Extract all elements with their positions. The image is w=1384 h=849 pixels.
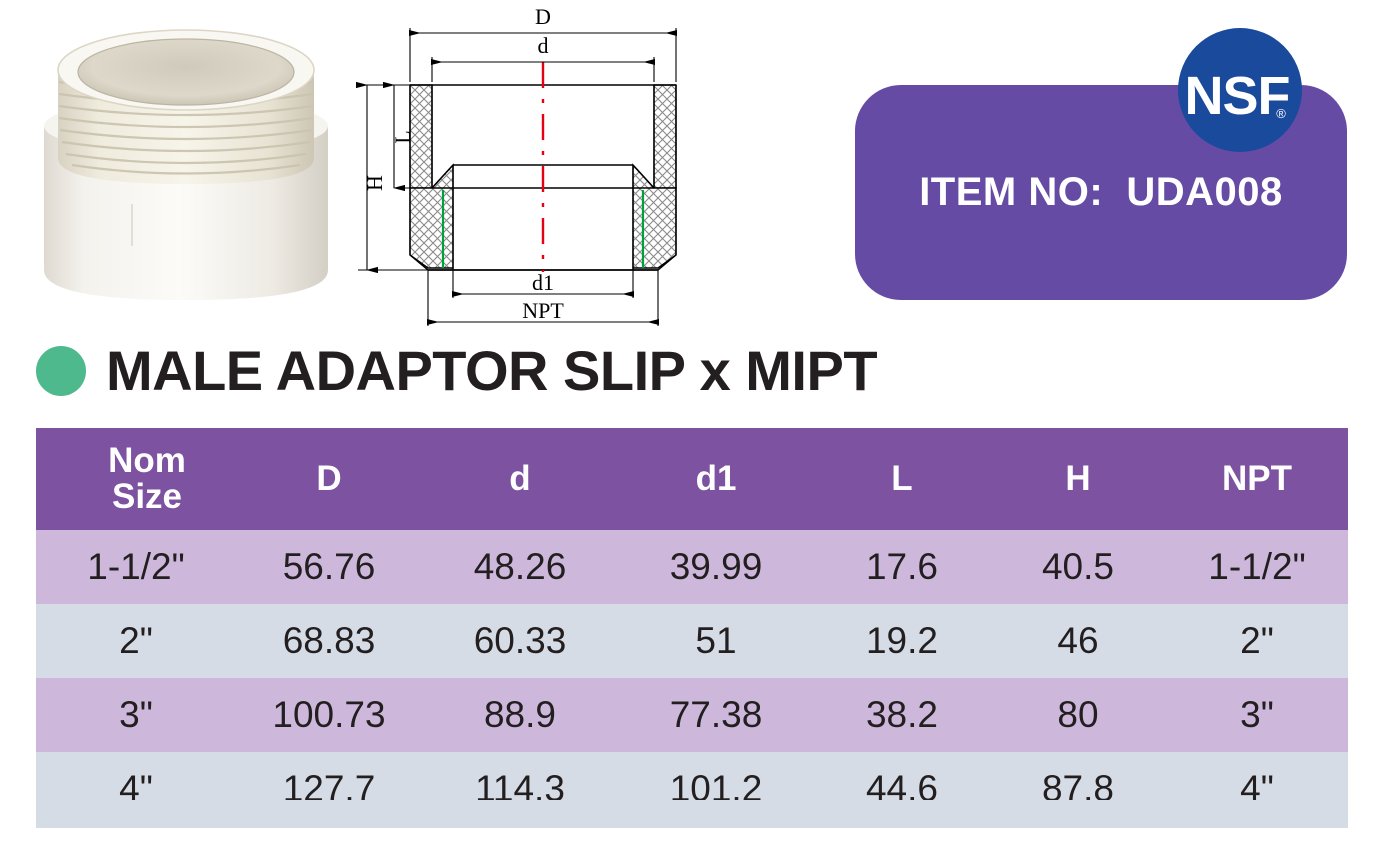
- cell-nom-size: 3": [36, 678, 236, 752]
- column-header-d-socket: d: [422, 428, 618, 530]
- column-header-l: L: [814, 428, 990, 530]
- table-row: 2" 68.83 60.33 51 19.2 46 2": [36, 604, 1348, 678]
- cell-h: 80: [990, 678, 1166, 752]
- cell-d-socket: 48.26: [422, 530, 618, 604]
- cell-nom-size: 1-1/2": [36, 530, 236, 604]
- nsf-certification-icon: NSF ®: [1178, 28, 1302, 152]
- table-header: Nom Size D d d1 L H NPT: [36, 428, 1348, 530]
- dimension-label-D: D: [535, 4, 551, 29]
- cell-d: 56.76: [236, 530, 422, 604]
- product-title-row: MALE ADAPTOR SLIP x MIPT: [36, 334, 877, 408]
- cell-d1: 39.99: [618, 530, 814, 604]
- cell-d: 68.83: [236, 604, 422, 678]
- nsf-registered-mark: ®: [1276, 106, 1286, 121]
- dimension-label-H: H: [362, 175, 387, 191]
- hatch-upper-right: [654, 85, 676, 188]
- cell-h: 46: [990, 604, 1166, 678]
- item-number-label: ITEM NO: UDA008: [919, 170, 1283, 215]
- table-row: 1-1/2" 56.76 48.26 39.99 17.6 40.5 1-1/2…: [36, 530, 1348, 604]
- product-photo-illustration: [26, 8, 346, 320]
- column-header-npt: NPT: [1166, 428, 1348, 530]
- dimension-label-NPT: NPT: [522, 298, 564, 323]
- nsf-text: NSF: [1185, 66, 1290, 126]
- cell-npt: 1-1/2": [1166, 530, 1348, 604]
- cell-l: 19.2: [814, 604, 990, 678]
- dimension-label-d1: d1: [532, 270, 554, 295]
- cell-d1: 51: [618, 604, 814, 678]
- cell-d1: 77.38: [618, 678, 814, 752]
- header-media-area: D d H L: [0, 0, 1384, 330]
- cell-npt: 3": [1166, 678, 1348, 752]
- table-bottom-edge: [36, 800, 1348, 828]
- column-header-d1: d1: [618, 428, 814, 530]
- cell-h: 40.5: [990, 530, 1166, 604]
- cell-d: 100.73: [236, 678, 422, 752]
- dimension-label-d: d: [538, 33, 549, 58]
- bullet-icon: [36, 346, 86, 396]
- cell-nom-size: 2": [36, 604, 236, 678]
- technical-drawing-svg: D d H L: [352, 0, 752, 336]
- dimension-label-L: L: [390, 130, 415, 143]
- column-header-d-outer: D: [236, 428, 422, 530]
- technical-drawing: D d H L: [352, 0, 752, 336]
- column-header-nom-size: Nom Size: [36, 428, 236, 530]
- table-body: 1-1/2" 56.76 48.26 39.99 17.6 40.5 1-1/2…: [36, 530, 1348, 826]
- table-header-row: Nom Size D d d1 L H NPT: [36, 428, 1348, 530]
- cell-l: 38.2: [814, 678, 990, 752]
- page-title: MALE ADAPTOR SLIP x MIPT: [106, 343, 877, 399]
- specification-table: Nom Size D d d1 L H NPT 1-1/2" 56.76 48.…: [36, 428, 1348, 826]
- table-row: 3" 100.73 88.9 77.38 38.2 80 3": [36, 678, 1348, 752]
- product-photo: [26, 8, 346, 320]
- cell-d-socket: 88.9: [422, 678, 618, 752]
- cell-l: 17.6: [814, 530, 990, 604]
- cell-d-socket: 60.33: [422, 604, 618, 678]
- cell-npt: 2": [1166, 604, 1348, 678]
- column-header-h: H: [990, 428, 1166, 530]
